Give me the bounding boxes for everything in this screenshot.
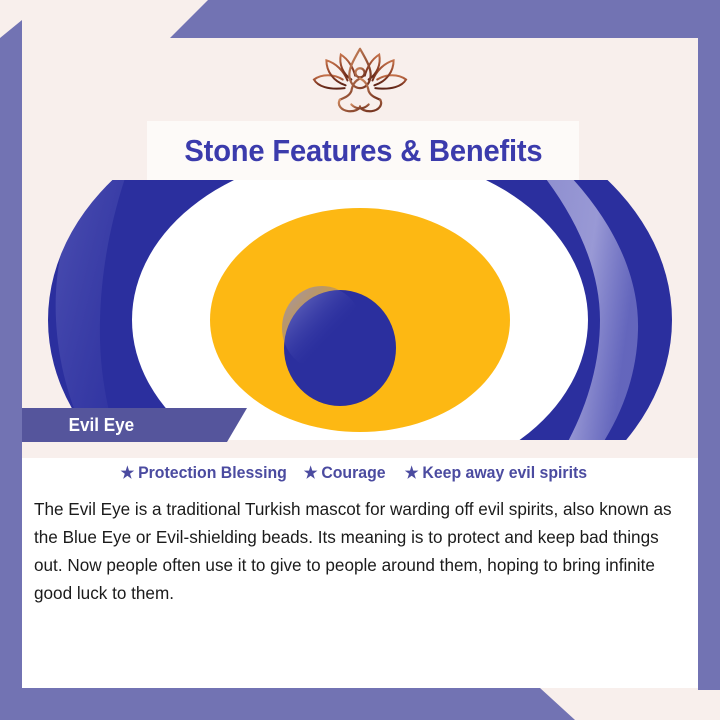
description-text: The Evil Eye is a traditional Turkish ma… [34, 495, 674, 607]
hero-label-ribbon: Evil Eye [22, 408, 247, 442]
feature-label: Protection Blessing [138, 464, 287, 483]
content-top-strip [22, 442, 698, 458]
feature-item-courage: ★ Courage [303, 464, 385, 483]
star-icon: ★ [405, 466, 419, 482]
hero-label-text: Evil Eye [25, 415, 134, 436]
frame-top-band [0, 0, 720, 38]
feature-label: Courage [321, 464, 385, 483]
star-icon: ★ [121, 466, 135, 482]
frame-left-band [0, 38, 22, 688]
lotus-meditation-icon [306, 44, 414, 116]
feature-item-protection-blessing: ★ Protection Blessing [121, 464, 287, 483]
content-card: ★ Protection Blessing ★ Courage ★ Keep a… [22, 442, 698, 688]
feature-item-keep-away-evil-spirits: ★ Keep away evil spirits [405, 464, 587, 483]
feature-label: Keep away evil spirits [422, 464, 587, 483]
star-icon: ★ [303, 466, 317, 482]
page-title: Stone Features & Benefits [184, 133, 542, 169]
frame-bottom-band [0, 688, 720, 720]
hero-image [22, 180, 698, 440]
title-banner: Stone Features & Benefits [147, 121, 579, 180]
evil-eye-bead-graphic [22, 180, 698, 440]
infographic-page: BUDDHA STONES Stone Features & Benefits [0, 0, 720, 720]
feature-list: ★ Protection Blessing ★ Courage ★ Keep a… [22, 464, 698, 483]
frame-corner-top-left [0, 20, 22, 42]
frame-right-band [698, 0, 720, 690]
